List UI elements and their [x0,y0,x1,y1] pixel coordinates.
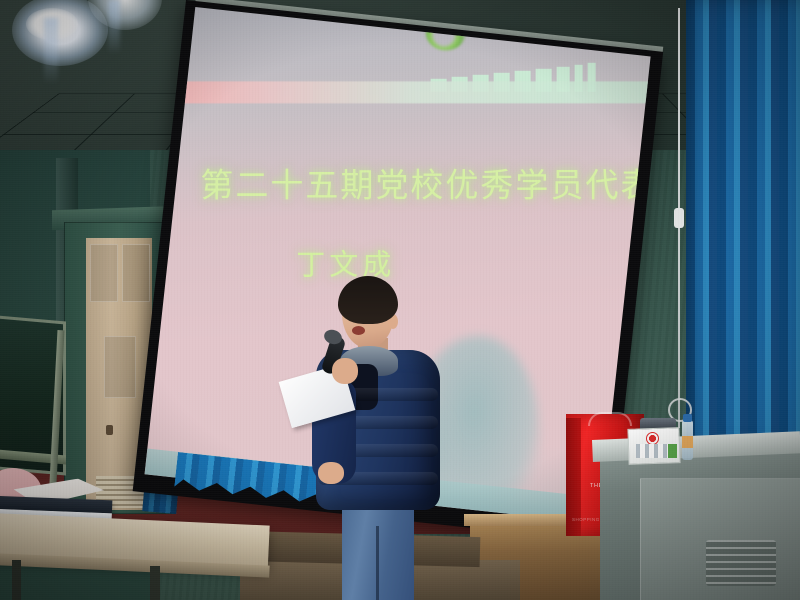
cabinet-vent-louvers [706,540,776,586]
speaker-hair [338,276,398,324]
cord-toggle[interactable] [674,208,684,228]
desk-leg-secondary [12,560,21,600]
speaker-hand-holding-mic [332,358,358,384]
desk-leg [150,566,160,600]
lens-flare-streak-2 [108,0,120,54]
slide-accent-bar [157,81,651,103]
door-panel-upper-left [90,244,118,302]
product-box-green-tab [668,444,677,458]
speaker-hand-holding-paper [318,462,344,484]
slide-title-text: 第二十五期党校优秀学员代表发言 [200,159,620,207]
door-panel-lower [104,336,136,398]
door-handle[interactable] [106,425,113,435]
photo-scene: 第二十五期党校优秀学员代表发言 丁文成 THE WORL [0,0,800,600]
lens-flare-streak [44,18,58,84]
jeans-seam [376,526,379,600]
product-box-graphic [636,444,670,458]
water-bottle-cap [683,414,692,422]
speaker-mouth [352,326,365,335]
water-bottle-label [682,436,693,448]
curtain-right [686,0,800,462]
shopping-bag-handle [588,412,632,426]
door-panel-upper-right [122,244,150,302]
